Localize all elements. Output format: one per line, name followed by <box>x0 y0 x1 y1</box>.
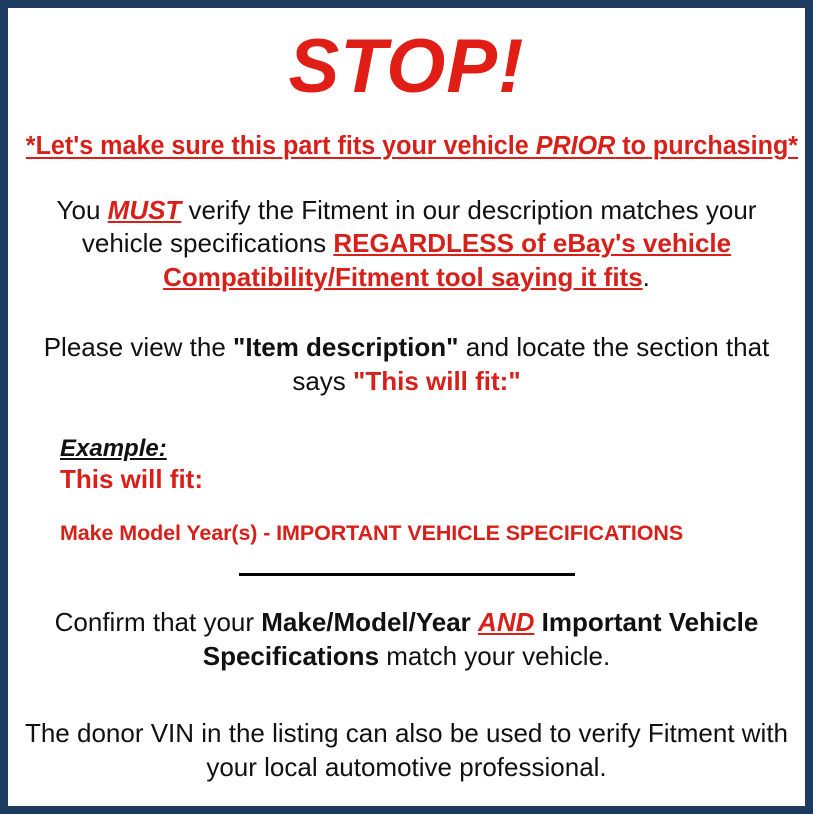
this-will-fit-emphasis: "This will fit:" <box>353 366 521 396</box>
page-title: STOP! <box>20 28 793 106</box>
example-label-row: Example: <box>60 435 793 463</box>
confirm-text-2 <box>471 607 478 637</box>
confirm-text-1: Confirm that your <box>55 607 262 637</box>
section-divider <box>239 573 575 576</box>
example-block: Example: This will fit: Make Model Year(… <box>20 435 793 547</box>
paragraph-item-description: Please view the "Item description" and l… <box>20 331 793 399</box>
and-emphasis: AND <box>478 607 534 637</box>
desc-text-1: Please view the <box>44 332 233 362</box>
notice-content: STOP! *Let's make sure this part fits yo… <box>8 8 805 806</box>
paragraph-confirm: Confirm that your Make/Model/Year AND Im… <box>20 606 793 674</box>
must-text-3: . <box>643 262 650 292</box>
confirm-text-3 <box>534 607 541 637</box>
must-emphasis: MUST <box>108 195 182 225</box>
confirm-text-4: match your vehicle. <box>379 641 610 671</box>
fitment-notice-card: STOP! *Let's make sure this part fits yo… <box>0 0 813 814</box>
paragraph-must-verify: You MUST verify the Fitment in our descr… <box>20 194 793 295</box>
make-model-year-emphasis: Make/Model/Year <box>261 607 471 637</box>
example-spec-line: Make Model Year(s) - IMPORTANT VEHICLE S… <box>60 521 793 547</box>
divider-wrap <box>20 573 793 576</box>
example-fit-heading: This will fit: <box>60 464 793 495</box>
tagline-text-before: *Let's make sure this part fits your veh… <box>26 132 536 160</box>
example-label: Example: <box>60 435 167 463</box>
tagline-emphasis-prior: PRIOR <box>536 132 616 160</box>
must-text-1: You <box>57 195 108 225</box>
item-description-emphasis: "Item description" <box>233 332 458 362</box>
paragraph-donor-vin: The donor VIN in the listing can also be… <box>20 717 793 785</box>
tagline-text-after: to purchasing* <box>615 132 798 160</box>
tagline: *Let's make sure this part fits your veh… <box>26 132 787 160</box>
